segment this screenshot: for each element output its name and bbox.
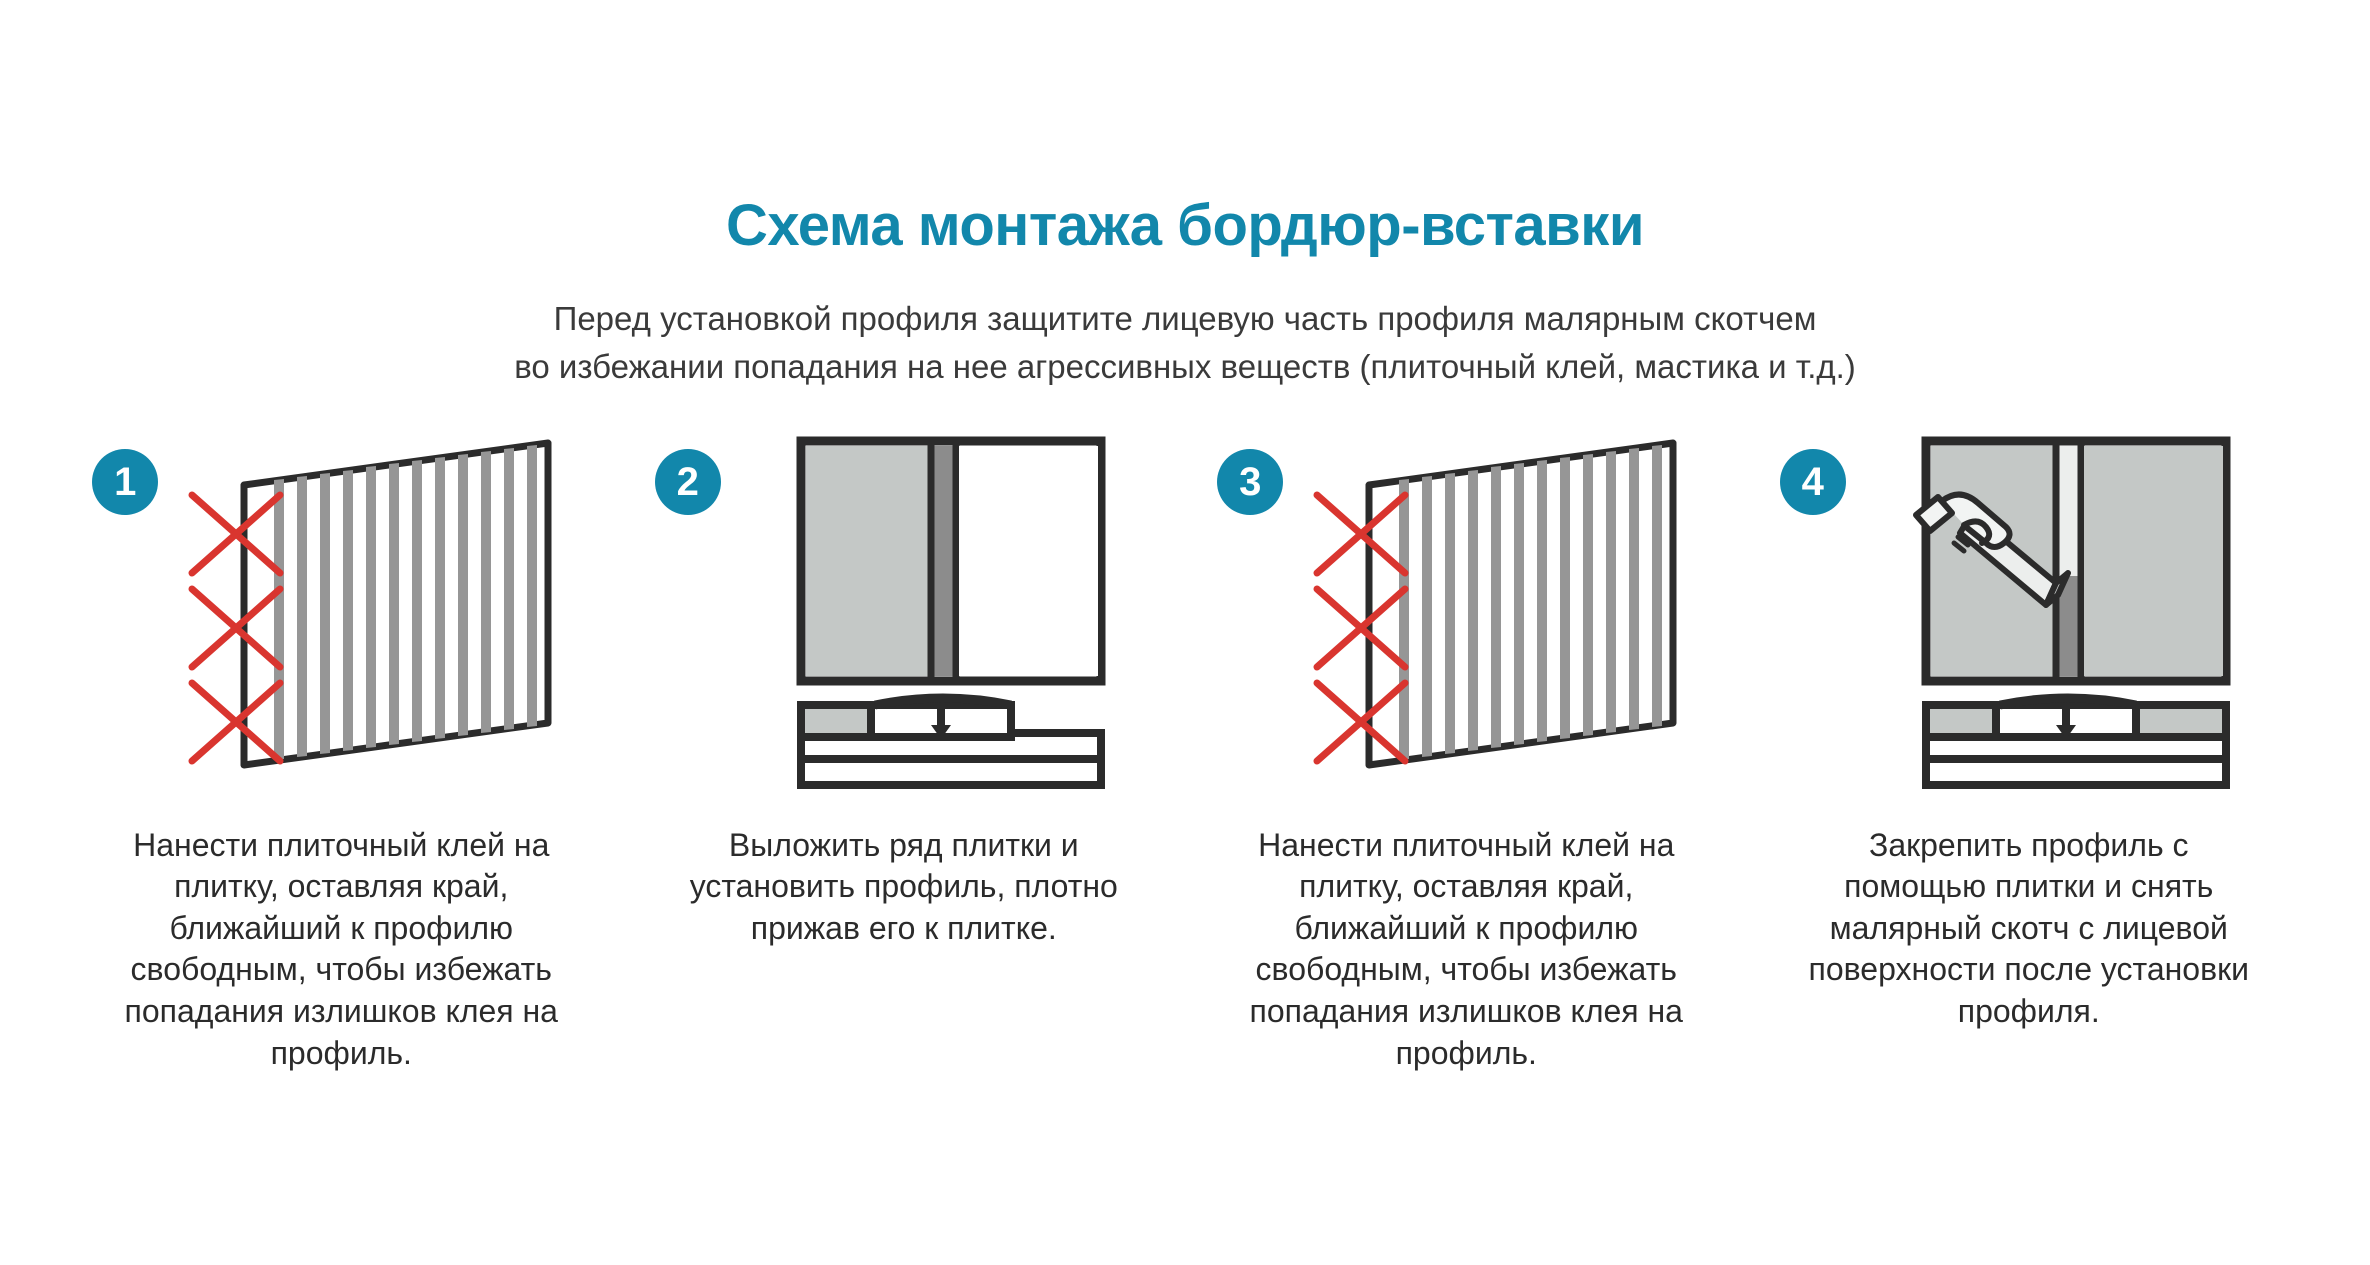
substrate-layer-2 xyxy=(1926,759,2226,785)
cross-section xyxy=(1926,698,2226,785)
subtitle-line-1: Перед установкой профиля защитите лицеву… xyxy=(0,295,2370,343)
step-4-caption: Закрепить профиль с помощью плитки и сня… xyxy=(1794,825,2264,1033)
step-badge-2: 2 xyxy=(655,449,721,515)
subtitle-line-2: во избежании попадания на нее агрессивны… xyxy=(0,343,2370,391)
page-subtitle: Перед установкой профиля защитите лицеву… xyxy=(0,295,2370,391)
top-view xyxy=(1916,441,2226,681)
profile-strip xyxy=(931,446,956,676)
step-3-caption: Нанести плиточный клей на плитку, оставл… xyxy=(1231,825,1701,1075)
tile-left xyxy=(806,446,931,676)
step-1: 1 xyxy=(60,433,623,1075)
step-3: 3 xyxy=(1185,433,1748,1075)
step-2-figure: 2 xyxy=(639,433,1169,803)
step-2-caption: Выложить ряд плитки и установить профиль… xyxy=(669,825,1139,950)
tile-right-empty xyxy=(959,446,1098,676)
step-2: 2 xyxy=(623,433,1186,1075)
tile-section-left xyxy=(1926,705,1996,737)
tile-right xyxy=(2084,446,2223,676)
step-4-figure: 4 xyxy=(1764,433,2294,803)
tile-section-right xyxy=(2136,705,2226,737)
header: Схема монтажа бордюр-вставки Перед устан… xyxy=(0,0,2370,391)
step-1-caption: Нанести плиточный клей на плитку, оставл… xyxy=(106,825,576,1075)
tile-section xyxy=(801,705,871,737)
profile-taped-area xyxy=(2056,446,2081,576)
step-4: 4 xyxy=(1748,433,2311,1075)
page-title: Схема монтажа бордюр-вставки xyxy=(0,196,2370,257)
cross-section xyxy=(801,698,1101,785)
steps-row: 1 xyxy=(0,433,2370,1075)
substrate-layer-2 xyxy=(801,759,1101,785)
tile-row-top-view-diagram xyxy=(735,433,1169,803)
step-3-figure: 3 xyxy=(1201,433,1731,803)
top-view xyxy=(801,441,1101,681)
step-badge-4: 4 xyxy=(1780,449,1846,515)
tape-removal-diagram xyxy=(1860,433,2294,803)
step-1-figure: 1 xyxy=(76,433,606,803)
step-badge-3: 3 xyxy=(1217,449,1283,515)
step-badge-1: 1 xyxy=(92,449,158,515)
tile-perspective-diagram-1 xyxy=(172,433,606,803)
tile-perspective-diagram-2 xyxy=(1297,433,1731,803)
